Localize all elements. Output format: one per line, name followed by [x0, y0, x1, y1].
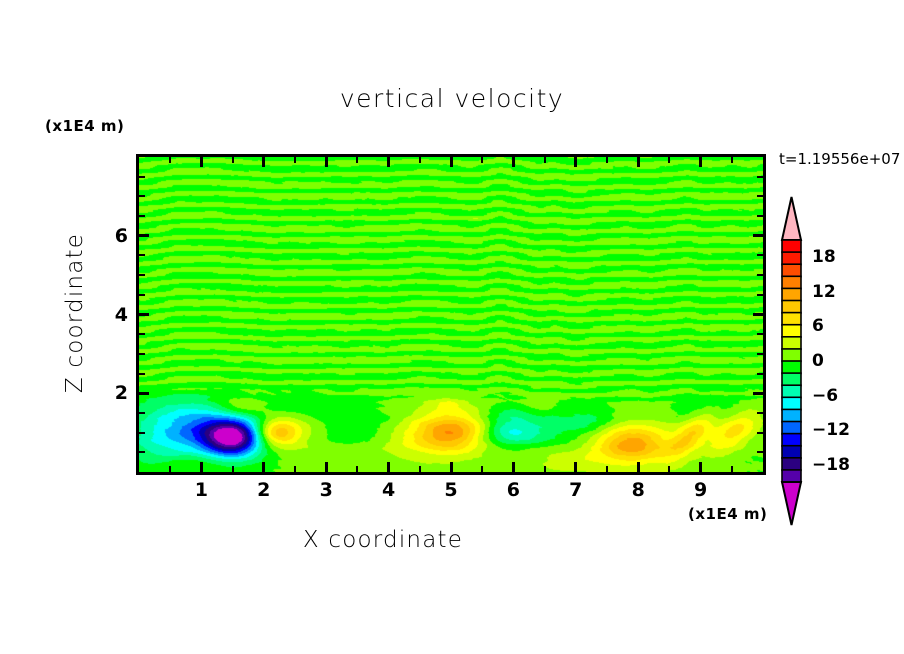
colorbar-segment [782, 361, 801, 374]
axis-tick [139, 195, 145, 197]
axis-tick [544, 466, 546, 472]
axis-tick [757, 353, 763, 355]
colorbar-segment [782, 385, 801, 398]
axis-tick [262, 462, 265, 472]
x-tick-label: 8 [632, 479, 645, 501]
axis-tick [606, 466, 608, 472]
axis-tick [757, 195, 763, 197]
axis-tick [139, 392, 149, 395]
axis-tick [544, 157, 546, 163]
axis-tick [512, 157, 515, 167]
colorbar-tick-label: −6 [812, 386, 838, 406]
axis-tick [325, 462, 328, 472]
axis-tick [731, 466, 733, 472]
axis-tick [262, 157, 265, 167]
axis-tick [450, 157, 453, 167]
axis-tick [139, 373, 145, 375]
axis-tick [731, 157, 733, 163]
colorbar[interactable] [779, 196, 805, 526]
axis-tick [387, 462, 390, 472]
colorbar-over-cap [782, 197, 801, 240]
axis-tick [668, 466, 670, 472]
colorbar-segment [782, 313, 801, 326]
x-tick-label: 3 [320, 479, 333, 501]
contour-plot-area[interactable] [136, 154, 766, 475]
y-tick-label: 4 [88, 304, 128, 326]
axis-tick [699, 462, 702, 472]
x-tick-label: 4 [382, 479, 395, 501]
axis-tick [757, 432, 763, 434]
colorbar-segment [782, 264, 801, 277]
y-axis-unit-label: (x1E4 m) [45, 117, 124, 135]
axis-tick [200, 157, 203, 167]
axis-tick [753, 234, 763, 237]
colorbar-tick-label: −18 [812, 455, 850, 475]
colorbar-segment [782, 349, 801, 362]
axis-tick [139, 313, 149, 316]
axis-tick [419, 466, 421, 472]
colorbar-segment [782, 470, 801, 483]
axis-tick [574, 462, 577, 472]
axis-tick [169, 157, 171, 163]
colorbar-segment [782, 373, 801, 386]
colorbar-segment [782, 422, 801, 435]
x-tick-label: 1 [195, 479, 208, 501]
axis-tick [139, 412, 145, 414]
axis-tick [139, 234, 149, 237]
axis-tick [512, 462, 515, 472]
colorbar-segment [782, 240, 801, 253]
axis-tick [757, 333, 763, 335]
axis-tick [139, 274, 145, 276]
axis-tick [325, 157, 328, 167]
axis-tick [419, 157, 421, 163]
axis-tick [757, 215, 763, 217]
axis-tick [637, 462, 640, 472]
x-tick-label: 7 [569, 479, 582, 501]
y-axis-title: Z coordinate [62, 193, 88, 433]
colorbar-segment [782, 252, 801, 265]
colorbar-tick-label: 6 [812, 316, 824, 336]
vertical-velocity-field [139, 157, 763, 472]
x-tick-label: 9 [694, 479, 707, 501]
axis-tick [139, 451, 145, 453]
colorbar-tick-label: 18 [812, 247, 836, 267]
time-annotation: t=1.19556e+07 [779, 150, 900, 168]
axis-tick [757, 294, 763, 296]
colorbar-tick-label: 0 [812, 351, 824, 371]
axis-tick [450, 462, 453, 472]
colorbar-segment [782, 325, 801, 338]
colorbar-segment [782, 397, 801, 410]
axis-tick [637, 157, 640, 167]
colorbar-segment [782, 446, 801, 459]
colorbar-segment [782, 458, 801, 471]
x-tick-label: 5 [444, 479, 457, 501]
colorbar-segment [782, 337, 801, 350]
colorbar-segment [782, 301, 801, 314]
axis-tick [753, 313, 763, 316]
y-tick-label: 6 [88, 225, 128, 247]
axis-tick [356, 157, 358, 163]
axis-tick [232, 157, 234, 163]
axis-tick [757, 412, 763, 414]
axis-tick [294, 466, 296, 472]
axis-tick [139, 176, 145, 178]
y-tick-label: 2 [88, 382, 128, 404]
axis-tick [757, 373, 763, 375]
axis-tick [169, 466, 171, 472]
axis-tick [294, 157, 296, 163]
colorbar-segment [782, 434, 801, 447]
figure-canvas: vertical velocity (x1E4 m) (x1E4 m) t=1.… [0, 0, 904, 654]
axis-tick [200, 462, 203, 472]
colorbar-segment [782, 276, 801, 289]
axis-tick [139, 294, 145, 296]
colorbar-tick-label: −12 [812, 420, 850, 440]
colorbar-under-cap [782, 482, 801, 525]
axis-tick [757, 176, 763, 178]
axis-tick [139, 353, 145, 355]
x-axis-title: X coordinate [0, 527, 766, 553]
axis-tick [139, 432, 145, 434]
axis-tick [606, 157, 608, 163]
axis-tick [232, 466, 234, 472]
axis-tick [356, 466, 358, 472]
colorbar-tick-label: 12 [812, 282, 836, 302]
axis-tick [139, 254, 145, 256]
axis-tick [757, 451, 763, 453]
axis-tick [668, 157, 670, 163]
x-axis-unit-label: (x1E4 m) [688, 505, 767, 523]
axis-tick [139, 333, 145, 335]
axis-tick [481, 157, 483, 163]
colorbar-swatches [779, 196, 805, 526]
axis-tick [387, 157, 390, 167]
page-title: vertical velocity [0, 84, 904, 113]
axis-tick [753, 392, 763, 395]
axis-tick [574, 157, 577, 167]
colorbar-segment [782, 409, 801, 422]
x-tick-label: 2 [257, 479, 270, 501]
axis-tick [481, 466, 483, 472]
axis-tick [757, 274, 763, 276]
colorbar-segment [782, 288, 801, 301]
axis-tick [757, 254, 763, 256]
axis-tick [699, 157, 702, 167]
x-tick-label: 6 [507, 479, 520, 501]
axis-tick [139, 215, 145, 217]
